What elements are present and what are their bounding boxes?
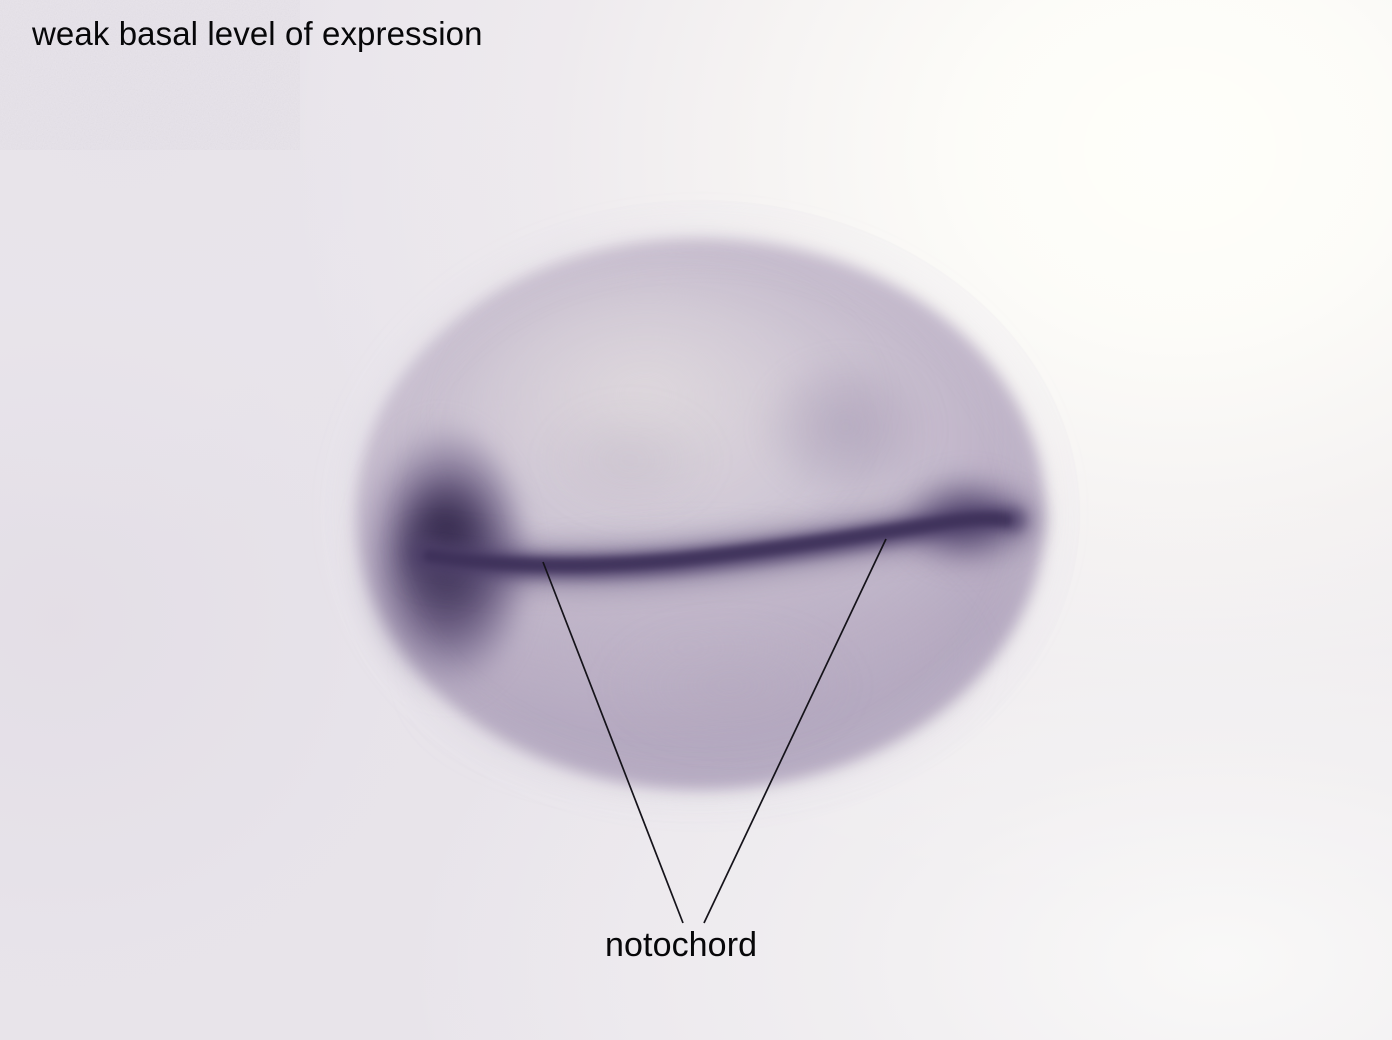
- notochord-label: notochord: [605, 928, 757, 964]
- micrograph-figure: weak basal level of expression notochord: [0, 0, 1392, 1040]
- leader-line-left: [543, 562, 683, 923]
- leader-lines: [0, 0, 1392, 1040]
- title-caption: weak basal level of expression: [32, 17, 483, 52]
- leader-line-right: [704, 539, 886, 923]
